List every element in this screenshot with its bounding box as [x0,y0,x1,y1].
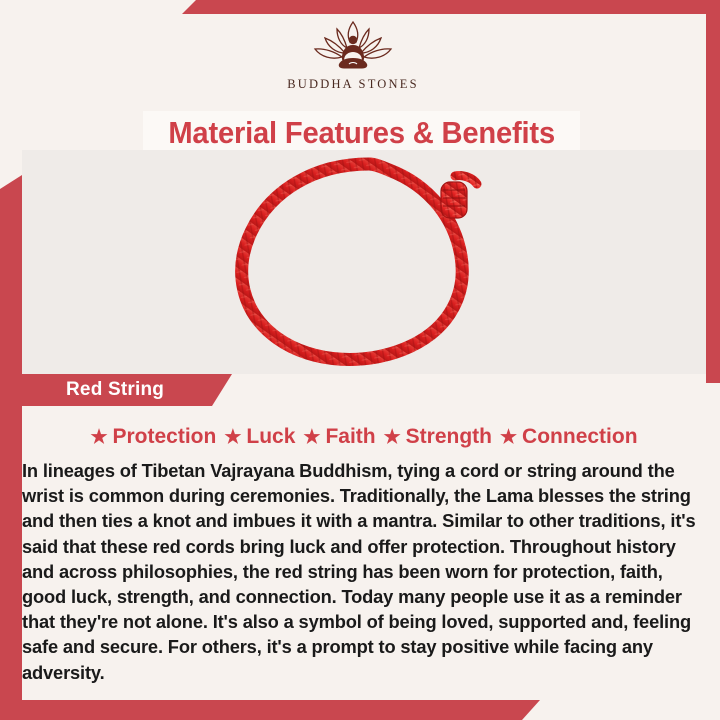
feature-label: Connection [522,425,638,449]
brand-logo: BUDDHA STONES [0,18,706,92]
feature-item-connection: ★ Connection [496,425,642,449]
product-name-banner: Red String [22,374,232,406]
product-image-panel [22,150,706,374]
feature-item-protection: ★ Protection [86,425,220,449]
right-red-accent-bar [706,0,720,205]
star-icon: ★ [224,428,241,447]
page-title-band: Material Features & Benefits [143,111,580,155]
description-text: In lineages of Tibetan Vajrayana Buddhis… [22,458,698,685]
feature-label: Luck [246,425,295,449]
feature-label: Protection [113,425,217,449]
star-icon: ★ [303,428,320,447]
header: BUDDHA STONES Material Features & Benefi… [0,14,706,150]
star-icon: ★ [90,428,107,447]
star-icon: ★ [500,428,517,447]
top-red-accent-bar [0,0,720,14]
product-name-label: Red String [66,379,164,401]
feature-label: Strength [406,425,492,449]
feature-label: Faith [325,425,375,449]
lotus-meditation-icon [307,18,399,74]
feature-item-strength: ★ Strength [380,425,496,449]
bottom-red-accent-bar [0,700,560,720]
red-string-bracelet-image [219,156,509,368]
feature-item-faith: ★ Faith [299,425,379,449]
feature-list: ★ Protection ★ Luck ★ Faith ★ Strength ★… [22,420,706,454]
bracelet-knot [441,175,477,218]
feature-item-luck: ★ Luck [220,425,299,449]
right-red-accent-bar-lower [706,205,720,383]
left-red-accent-bar [0,175,22,701]
star-icon: ★ [384,428,401,447]
page-title: Material Features & Benefits [168,115,555,151]
brand-name: BUDDHA STONES [287,77,419,92]
infographic-page: BUDDHA STONES Material Features & Benefi… [0,0,720,720]
